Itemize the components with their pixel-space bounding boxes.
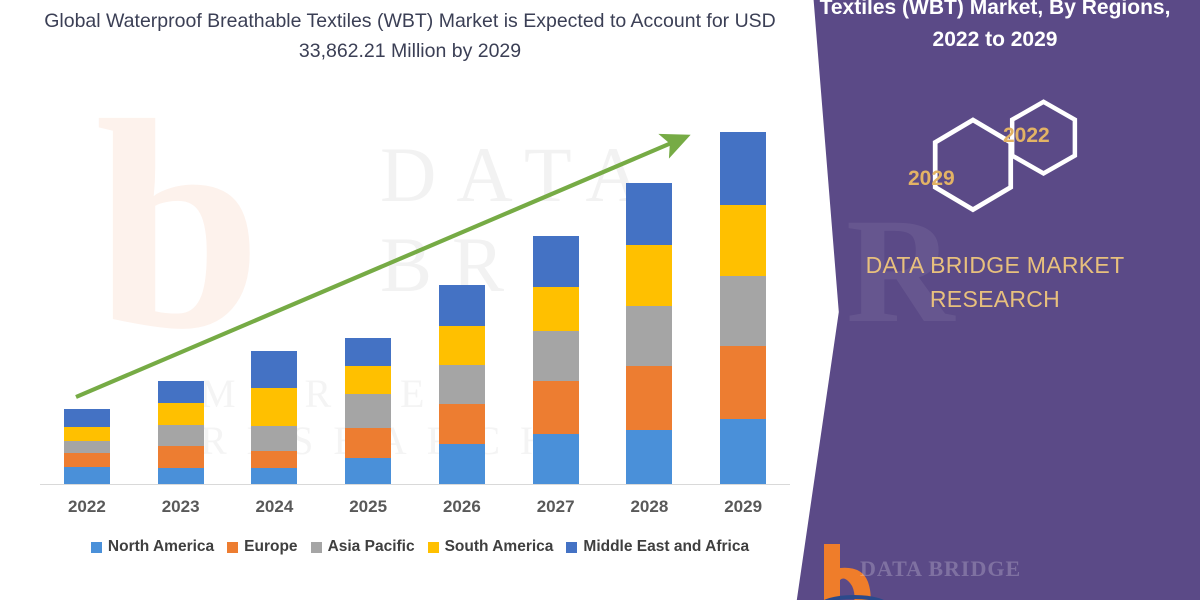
bar-segment	[158, 468, 204, 485]
x-axis-line	[40, 484, 790, 485]
bar-segment	[345, 366, 391, 394]
bar-chart-plot	[40, 110, 790, 485]
bar-2027[interactable]	[533, 236, 579, 485]
bar-2023[interactable]	[158, 381, 204, 485]
legend-item-asia-pacific[interactable]: Asia Pacific	[311, 538, 415, 556]
bar-2026[interactable]	[439, 285, 485, 485]
legend-item-south-america[interactable]: South America	[428, 538, 554, 556]
bar-segment	[720, 419, 766, 485]
bar-segment	[720, 132, 766, 205]
legend-swatch-icon	[566, 542, 577, 553]
legend-label: North America	[108, 538, 214, 556]
hexagon-2029-label: 2029	[908, 167, 955, 191]
bar-segment	[251, 451, 297, 468]
bar-segment	[533, 381, 579, 433]
bar-2022[interactable]	[64, 409, 110, 485]
bar-2028[interactable]	[626, 183, 672, 485]
hexagon-2022-label: 2022	[1003, 124, 1050, 148]
x-label-2022: 2022	[42, 497, 132, 517]
bar-segment	[720, 346, 766, 420]
x-label-2026: 2026	[417, 497, 507, 517]
x-label-2027: 2027	[511, 497, 601, 517]
bar-segment	[626, 245, 672, 305]
legend-item-europe[interactable]: Europe	[227, 538, 297, 556]
legend-label: South America	[445, 538, 554, 556]
bar-segment	[439, 444, 485, 485]
bar-segment	[626, 430, 672, 485]
x-label-2028: 2028	[604, 497, 694, 517]
bar-2029[interactable]	[720, 132, 766, 485]
legend-label: Europe	[244, 538, 297, 556]
x-axis-labels: 20222023202420252026202720282029	[40, 497, 790, 523]
bar-segment	[345, 458, 391, 485]
bar-segment	[251, 426, 297, 451]
legend-swatch-icon	[428, 542, 439, 553]
legend-swatch-icon	[91, 542, 102, 553]
bar-2024[interactable]	[251, 351, 297, 485]
legend-label: Asia Pacific	[328, 538, 415, 556]
x-label-2024: 2024	[229, 497, 319, 517]
bar-segment	[439, 404, 485, 443]
brand-panel: BR Textiles (WBT) Market, By Regions, 20…	[780, 0, 1200, 600]
hexagon-badges: 2029 2022	[890, 95, 1150, 230]
bar-segment	[626, 183, 672, 245]
company-name: DATA BRIDGE MARKET RESEARCH	[820, 248, 1170, 316]
legend-item-middle-east-and-africa[interactable]: Middle East and Africa	[566, 538, 749, 556]
legend-label: Middle East and Africa	[583, 538, 749, 556]
bar-segment	[626, 306, 672, 366]
bar-segment	[720, 205, 766, 277]
x-label-2025: 2025	[323, 497, 413, 517]
bar-segment	[158, 425, 204, 446]
bar-segment	[158, 403, 204, 424]
bar-segment	[626, 366, 672, 430]
bar-segment	[251, 388, 297, 425]
brand-panel-title: Textiles (WBT) Market, By Regions, 2022 …	[800, 0, 1190, 56]
bar-segment	[158, 381, 204, 403]
bar-segment	[64, 467, 110, 485]
bar-segment	[345, 428, 391, 458]
bar-segment	[64, 427, 110, 441]
legend-swatch-icon	[311, 542, 322, 553]
bar-segment	[64, 409, 110, 427]
logo-wordmark: DATA BRIDGE	[860, 556, 1021, 582]
chart-legend: North AmericaEuropeAsia PacificSouth Ame…	[40, 538, 800, 556]
bar-segment	[439, 365, 485, 404]
legend-item-north-america[interactable]: North America	[91, 538, 214, 556]
hexagon-2029-shape	[935, 120, 1011, 210]
bar-segment	[345, 338, 391, 366]
bar-segment	[533, 331, 579, 381]
bar-segment	[251, 468, 297, 485]
bar-2025[interactable]	[345, 338, 391, 485]
x-label-2029: 2029	[698, 497, 788, 517]
bar-segment	[64, 453, 110, 467]
bar-segment	[64, 441, 110, 453]
bar-segment	[345, 394, 391, 427]
bar-segment	[439, 326, 485, 365]
chart-panel: b DATA BR MARKET RESEARCH Global Waterpr…	[0, 0, 830, 600]
bar-segment	[533, 434, 579, 485]
legend-swatch-icon	[227, 542, 238, 553]
bar-segment	[533, 287, 579, 331]
bar-segment	[533, 236, 579, 286]
x-label-2023: 2023	[136, 497, 226, 517]
bar-segment	[251, 351, 297, 388]
chart-title: Global Waterproof Breathable Textiles (W…	[30, 6, 790, 66]
bar-segment	[720, 276, 766, 346]
bar-segment	[158, 446, 204, 468]
bar-segment	[439, 285, 485, 326]
